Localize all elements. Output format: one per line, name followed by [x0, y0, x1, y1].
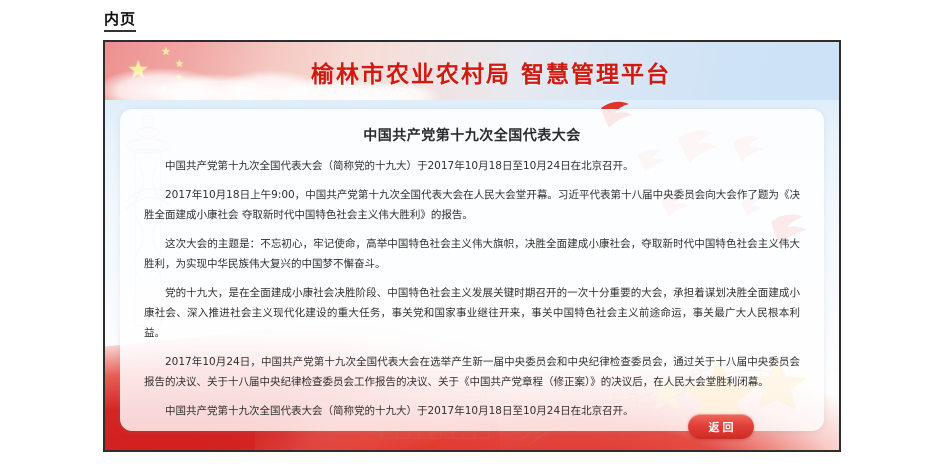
card-paragraph: 2017年10月24日，中国共产党第十九次全国代表大会在选举产生新一届中央委员会…	[144, 352, 800, 392]
app-title: 榆林市农业农村局 智慧管理平台	[105, 55, 839, 89]
content-card: 中国共产党第十九次全国代表大会 中国共产党第十九次全国代表大会（简称党的十九大）…	[120, 109, 824, 431]
page-caption: 内页	[104, 12, 136, 32]
app-frame: ★ ★ ★ ★ ★ 榆林市农业农村局 智慧管理平台	[103, 40, 841, 452]
screenshot-root: 内页 ★ ★ ★ ★ ★ 榆林市农业农村局 智慧管理平台	[0, 0, 942, 464]
card-paragraph: 2017年10月18日上午9:00，中国共产党第十九次全国代表大会在人民大会堂开…	[144, 185, 800, 225]
card-paragraph: 党的十九大，是在全面建成小康社会决胜阶段、中国特色社会主义发展关键时期召开的一次…	[144, 283, 800, 343]
return-button[interactable]: 返回	[688, 414, 754, 439]
page-stage: 中国共产党第十九次全国代表大会 中国共产党第十九次全国代表大会（简称党的十九大）…	[105, 100, 839, 450]
card-paragraph: 这次大会的主题是：不忘初心，牢记使命，高举中国特色社会主义伟大旗帜，决胜全面建成…	[144, 234, 800, 274]
card-title: 中国共产党第十九次全国代表大会	[144, 125, 800, 145]
card-paragraph: 中国共产党第十九次全国代表大会（简称党的十九大）于2017年10月18日至10月…	[144, 156, 800, 176]
app-banner: ★ ★ ★ ★ ★ 榆林市农业农村局 智慧管理平台	[105, 42, 839, 100]
